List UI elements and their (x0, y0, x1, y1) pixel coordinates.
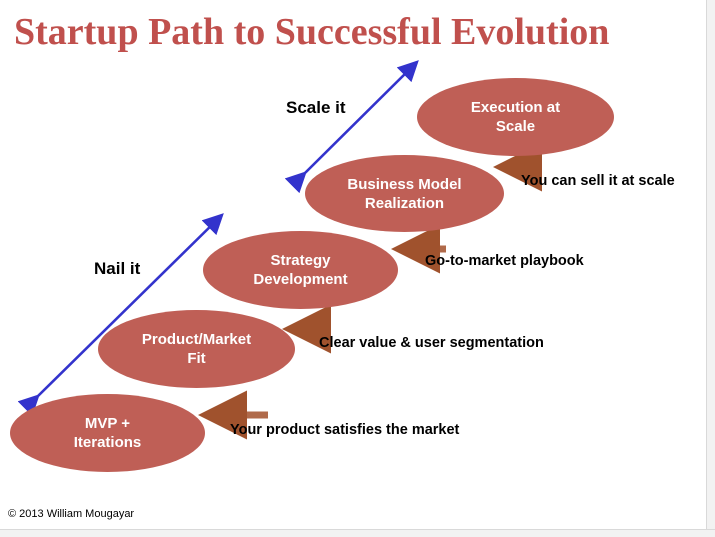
callout-value: Clear value & user segmentation (319, 335, 544, 351)
copyright-credit: © 2013 William Mougayar (8, 508, 134, 520)
stage-label: MVP + Iterations (74, 414, 142, 452)
phase-scale-it: Scale it (286, 98, 346, 118)
stage-execution-at-scale[interactable]: Execution at Scale (417, 78, 614, 156)
page-title: Startup Path to Successful Evolution (14, 10, 704, 54)
phase-nail-it: Nail it (94, 259, 140, 279)
stage-strategy-development[interactable]: Strategy Development (203, 231, 398, 309)
right-border (706, 0, 715, 537)
stage-product-market-fit[interactable]: Product/Market Fit (98, 310, 295, 388)
diagram-canvas: Startup Path to Successful Evolution (0, 0, 715, 537)
stage-label: Business Model Realization (347, 175, 461, 213)
callout-gtm: Go-to-market playbook (425, 253, 584, 269)
stage-mvp-iterations[interactable]: MVP + Iterations (10, 394, 205, 472)
stage-label: Product/Market Fit (142, 330, 251, 368)
callout-scale: You can sell it at scale (521, 173, 675, 189)
callout-product: Your product satisfies the market (230, 422, 459, 438)
stage-label: Execution at Scale (471, 98, 560, 136)
stage-business-model-realization[interactable]: Business Model Realization (305, 155, 504, 232)
stage-label: Strategy Development (253, 251, 347, 289)
bottom-border (0, 529, 715, 537)
